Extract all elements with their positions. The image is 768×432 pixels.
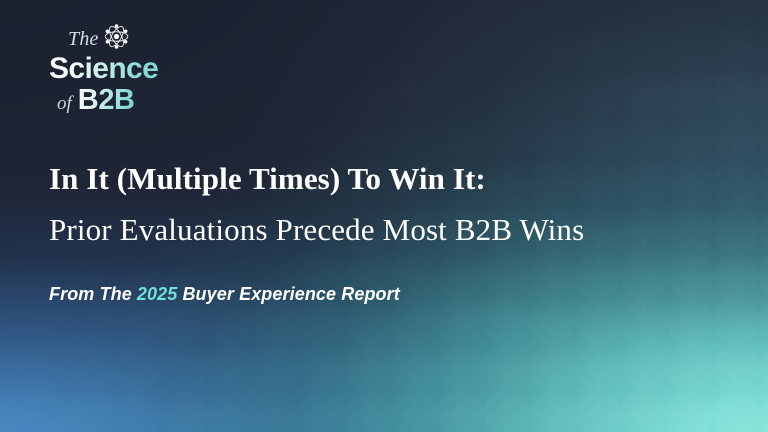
science-of-b2b-logo: The Science of — [49, 28, 229, 115]
logo-of-text: of — [57, 93, 72, 115]
headline-line-2: Prior Evaluations Precede Most B2B Wins — [49, 211, 739, 249]
logo-science-text: Science — [49, 53, 158, 84]
headline-block: In It (Multiple Times) To Win It: Prior … — [49, 160, 739, 306]
headline-line-1: In It (Multiple Times) To Win It: — [49, 160, 739, 198]
tagline-prefix: From The — [49, 284, 137, 304]
atom-icon — [103, 23, 130, 50]
slide-content: The Science of — [0, 0, 768, 432]
tagline-year: 2025 — [137, 284, 177, 304]
logo-b2b-text: B2B — [78, 85, 135, 115]
report-tagline: From The 2025 Buyer Experience Report — [49, 282, 739, 306]
tagline-suffix: Buyer Experience Report — [177, 284, 399, 304]
report-title-slide: The Science of — [0, 0, 768, 432]
logo-top-row: The — [49, 28, 229, 54]
logo-bottom-row: of B2B — [49, 85, 229, 115]
logo-the-text: The — [68, 28, 99, 50]
